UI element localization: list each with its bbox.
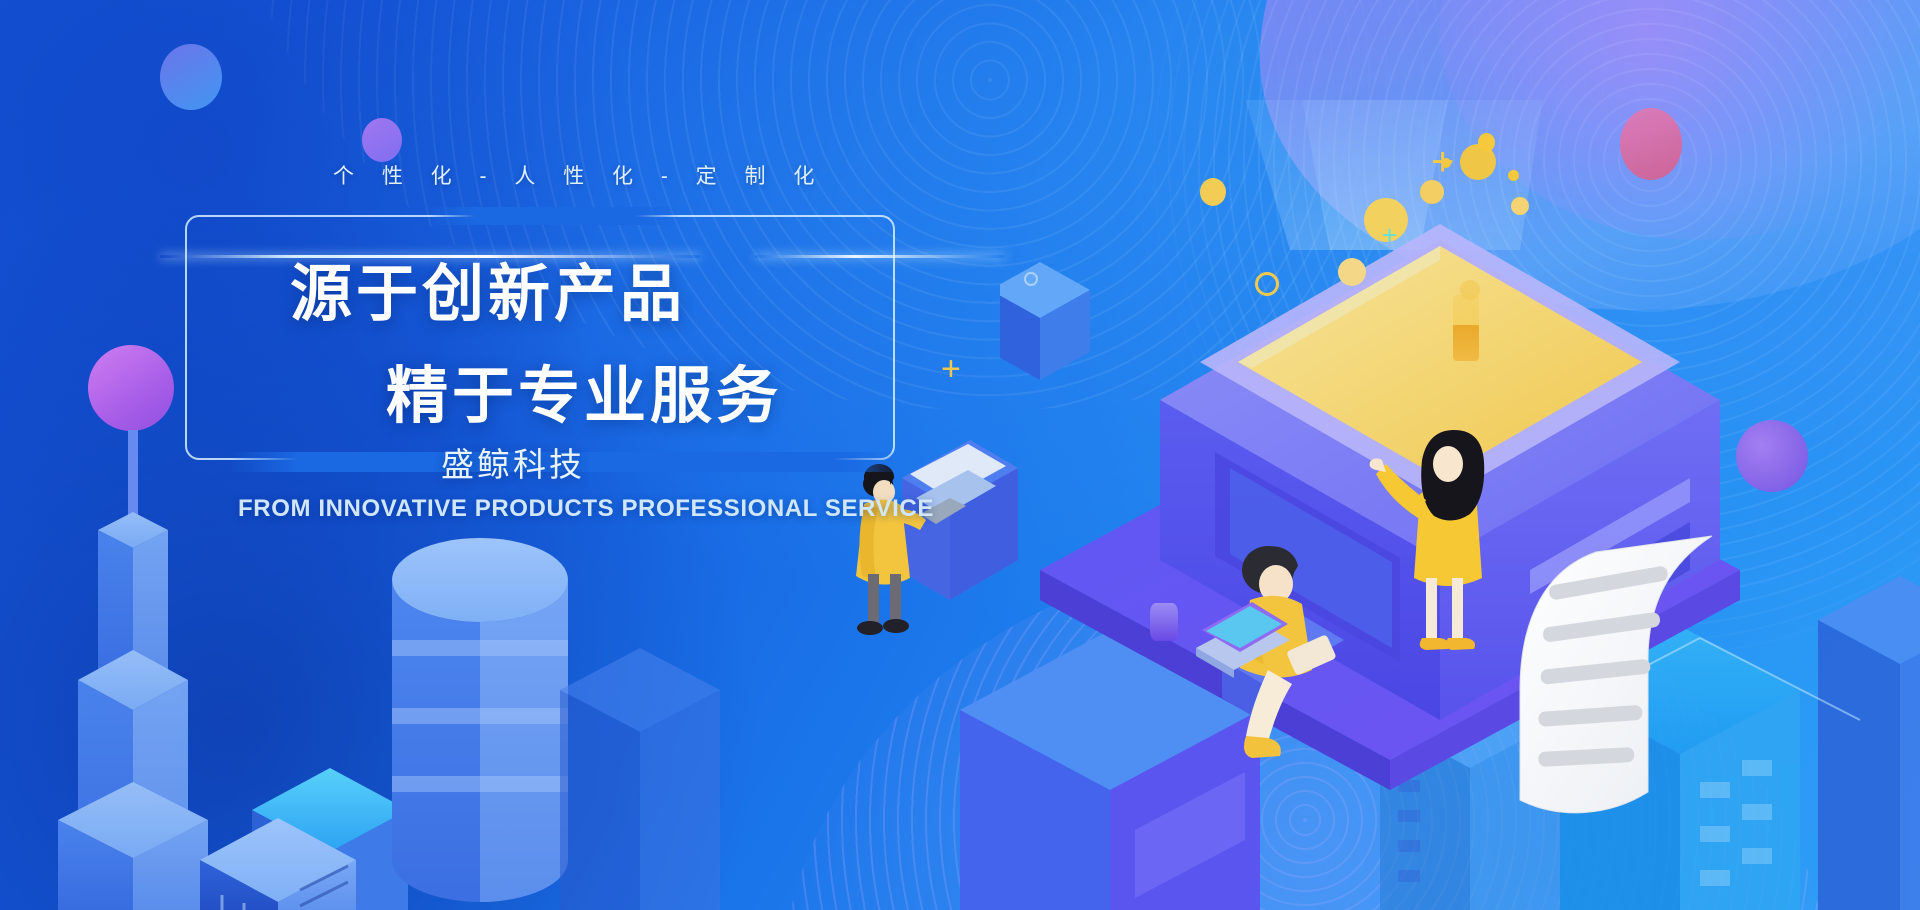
plus-icon: + [941,352,961,386]
banner-kicker: 个 性 化 - 人 性 化 - 定 制 化 [333,160,753,190]
orb-purple-small-icon [362,118,402,162]
isometric-printer-scene [1000,100,1920,820]
headline-line-2: 精于专业服务 [386,345,782,435]
english-tagline: FROM INNOVATIVE PRODUCTS PROFESSIONAL SE… [238,495,934,523]
glow-line-right [755,255,1005,258]
headline-line-1: 源于创新产品 [290,243,686,333]
hero-banner: + + + 个 性 化 - 人 性 化 - 定 制 化 源于创新产品 精于专业服… [0,0,1920,910]
man-at-kiosk-terminal [840,440,1060,660]
floating-cube-icon [1000,262,1090,380]
orb-blue-icon [160,44,222,110]
frame-gap-top [430,207,680,225]
company-name: 盛鲸科技 [441,438,585,486]
